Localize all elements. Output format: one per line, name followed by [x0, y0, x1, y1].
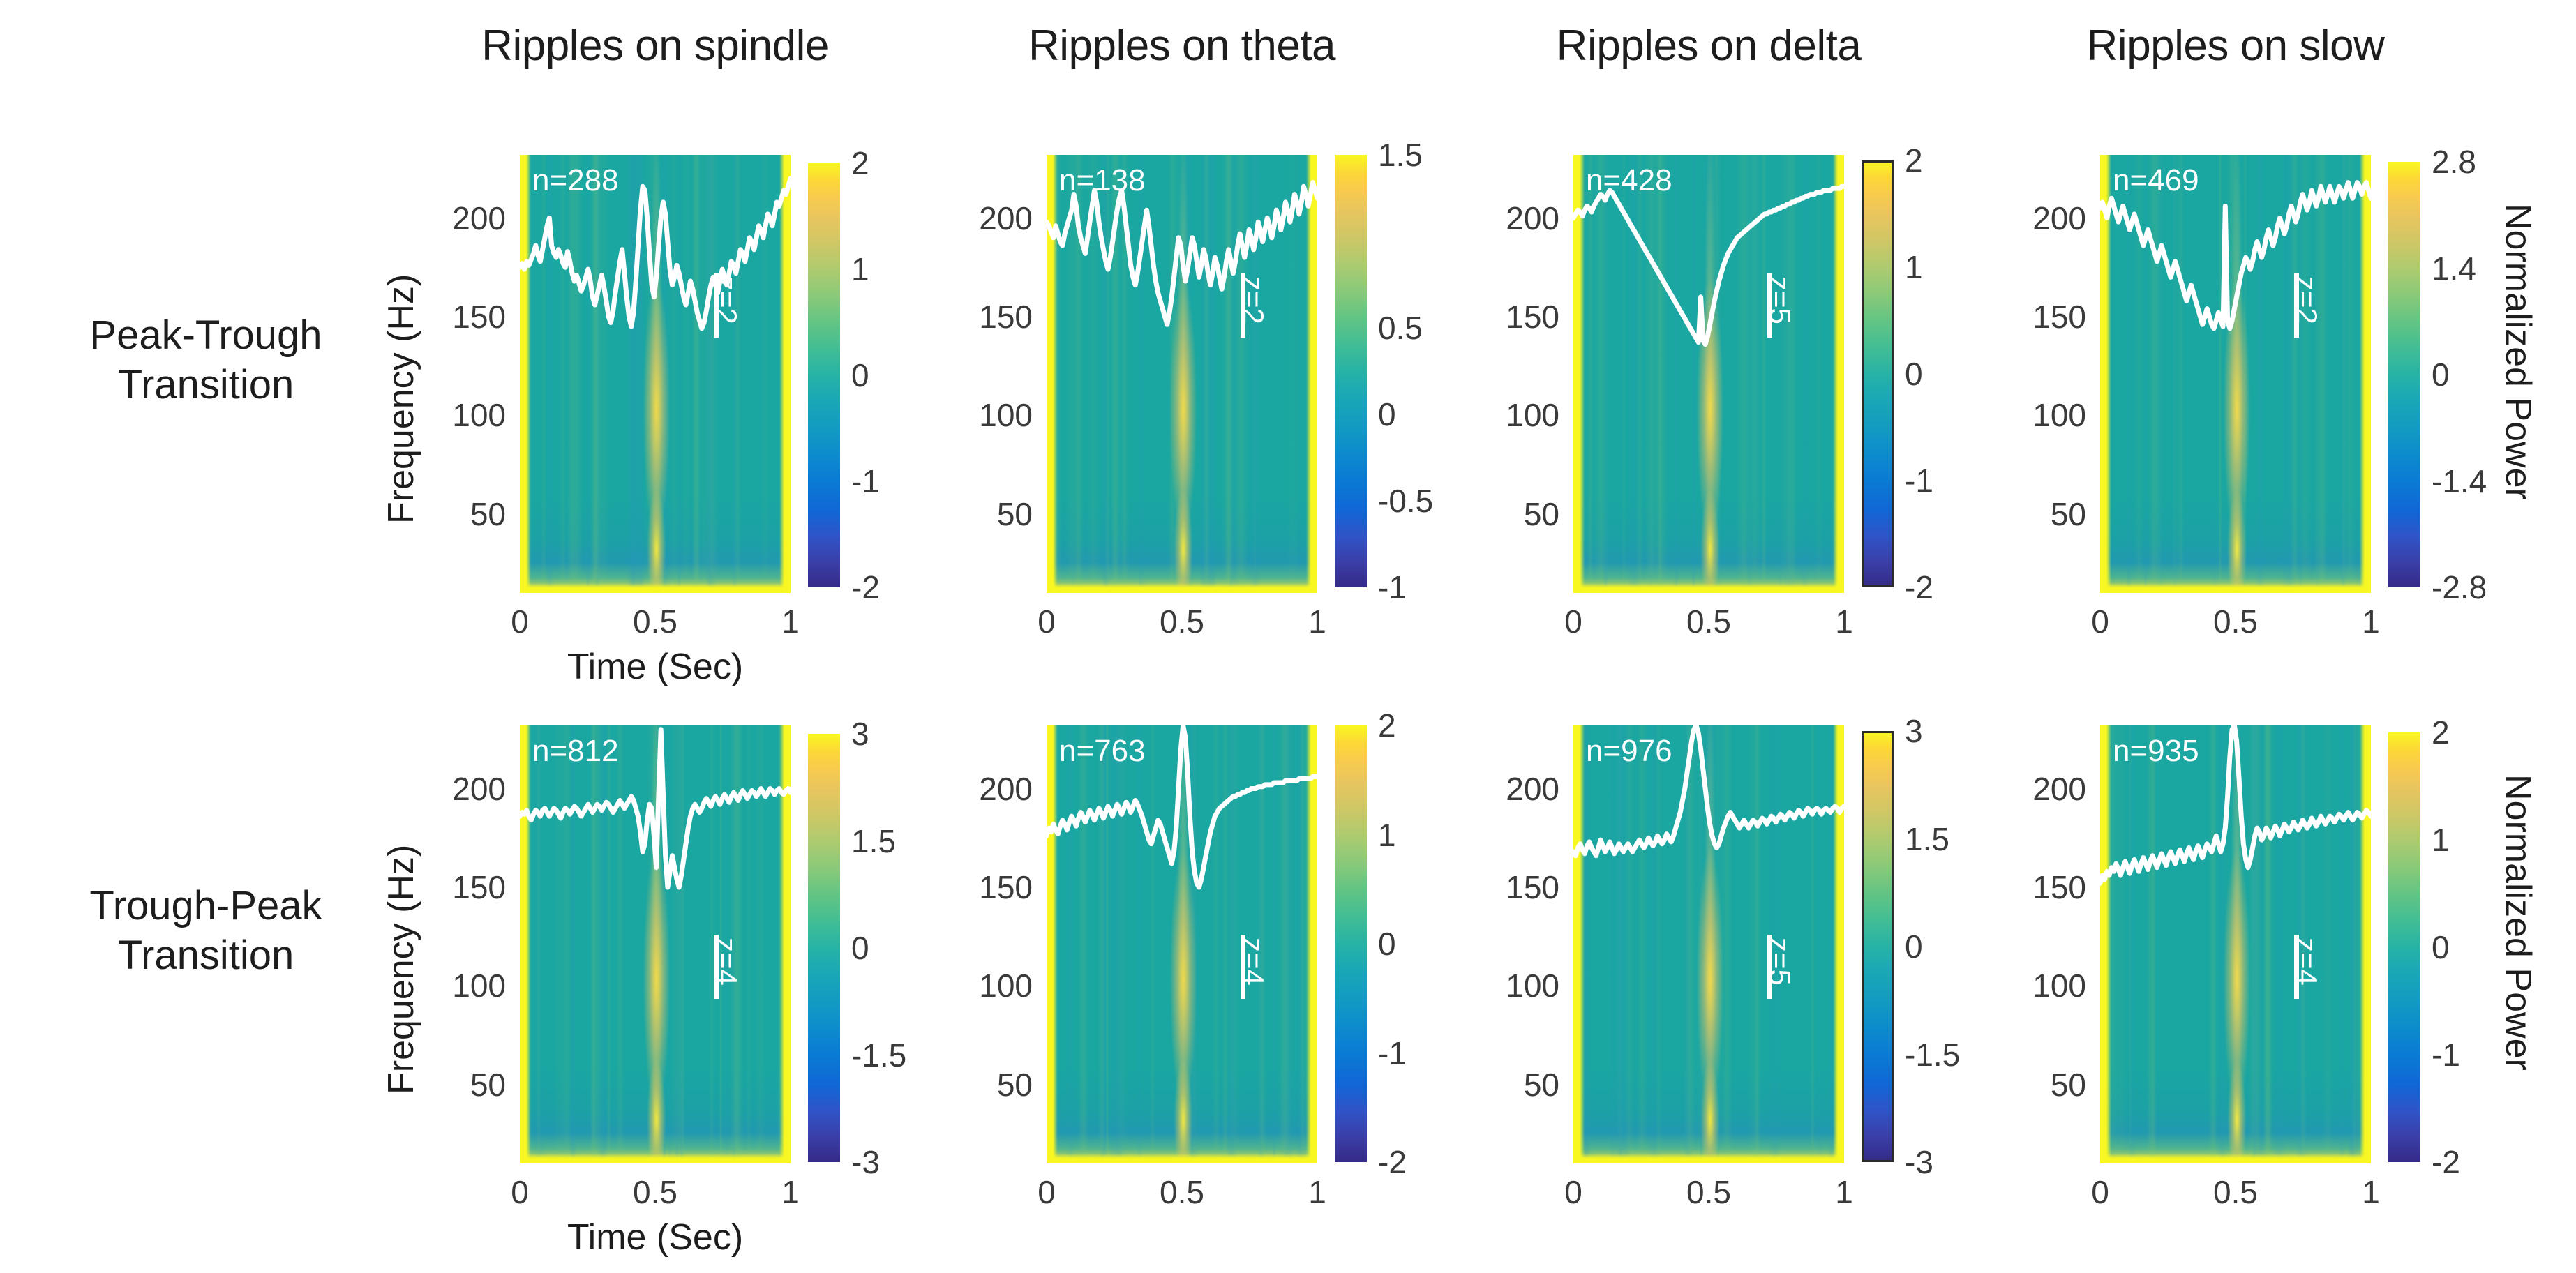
colorbar-title: Normalized Power	[2497, 774, 2539, 1071]
x-tick-label: 0.5	[1160, 603, 1204, 640]
z-scale-bar: z=2	[2294, 273, 2350, 338]
colorbar	[2388, 732, 2420, 1162]
x-tick-label: 0	[2091, 1173, 2109, 1211]
z-scale-bar: z=2	[714, 273, 770, 338]
colorbar-tick-label: -2	[851, 568, 880, 606]
y-tick-label: 50	[2002, 1066, 2086, 1103]
colorbar-tick-label: -1	[1378, 568, 1407, 606]
y-tick-label: 50	[1476, 495, 1559, 533]
colorbar	[1862, 160, 1894, 587]
colorbar-tick-label: -1	[1905, 462, 1933, 499]
colorbar-tick-label: 1.5	[851, 822, 896, 860]
y-tick-label: 150	[422, 868, 506, 906]
colorbar-tick-label: 0	[1905, 928, 1923, 965]
x-tick-label: 0	[2091, 603, 2109, 640]
x-tick-label: 0	[1564, 603, 1582, 640]
colorbar-tick-label: 1.5	[1905, 820, 1949, 858]
y-tick-label: 150	[2002, 298, 2086, 336]
z-scale-bar-label: z=5	[1763, 276, 1797, 324]
colorbar-tick-label: 1	[2432, 821, 2450, 859]
colorbar-tick-label: -1.4	[2432, 462, 2487, 500]
spectrogram-plot[interactable]	[1047, 155, 1317, 593]
x-tick-label: 0	[1038, 603, 1056, 640]
z-scale-bar-label: z=4	[2290, 937, 2323, 986]
x-tick-label: 1	[2362, 1173, 2380, 1211]
y-tick-label: 150	[2002, 868, 2086, 906]
sample-count-label: n=138	[1059, 163, 1146, 198]
z-scale-bar: z=2	[1241, 273, 1296, 338]
colorbar	[2388, 162, 2420, 587]
colorbar-tick-label: 0.5	[1378, 309, 1423, 347]
y-tick-label: 150	[422, 298, 506, 336]
colorbar-tick-label: -1	[851, 462, 880, 500]
colorbar-tick-label: 2	[851, 144, 869, 182]
column-title-3: Ripples on delta	[1455, 21, 1963, 70]
y-axis-title: Frequency (Hz)	[380, 845, 422, 1094]
colorbar-tick-label: -1.5	[1905, 1036, 1960, 1074]
x-tick-label: 0.5	[633, 1173, 677, 1211]
y-tick-label: 50	[949, 1066, 1033, 1103]
z-scale-bar-label: z=2	[710, 276, 743, 324]
y-tick-label: 50	[422, 1066, 506, 1103]
sample-count-label: n=763	[1059, 734, 1146, 769]
colorbar-tick-label: -3	[1905, 1143, 1933, 1181]
x-tick-label: 0.5	[2213, 1173, 2258, 1211]
x-tick-label: 0	[1564, 1173, 1582, 1211]
sample-count-label: n=288	[532, 163, 619, 198]
spectrogram-plot[interactable]	[2100, 155, 2371, 593]
x-tick-label: 0.5	[1686, 1173, 1731, 1211]
x-axis-title: Time (Sec)	[567, 646, 743, 688]
z-scale-bar-label: z=5	[1763, 937, 1797, 986]
y-tick-label: 200	[2002, 770, 2086, 808]
colorbar	[808, 734, 840, 1162]
colorbar-tick-label: 2	[1378, 707, 1396, 744]
x-tick-label: 1	[1835, 1173, 1853, 1211]
row-label-line1: Trough-Peak	[42, 882, 370, 931]
colorbar-tick-label: -1	[1378, 1034, 1407, 1072]
y-tick-label: 100	[422, 967, 506, 1004]
lfp-overlay-trace	[2100, 155, 2371, 593]
lfp-overlay-trace	[1573, 155, 1844, 593]
colorbar-tick-label: -2	[1378, 1143, 1407, 1181]
y-tick-label: 100	[1476, 967, 1559, 1004]
colorbar-tick-label: 0	[1378, 396, 1396, 433]
x-axis-title: Time (Sec)	[567, 1216, 743, 1258]
colorbar-tick-label: 0	[1378, 925, 1396, 963]
z-scale-bar: z=4	[1241, 935, 1296, 999]
sample-count-label: n=428	[1586, 163, 1672, 198]
colorbar-tick-label: -2.8	[2432, 568, 2487, 606]
lfp-overlay-trace	[520, 155, 791, 593]
y-tick-label: 200	[949, 770, 1033, 808]
colorbar-tick-label: 0	[1905, 355, 1923, 393]
row-label-line1: Peak-Trough	[42, 311, 370, 361]
colorbar-tick-label: 3	[851, 715, 869, 753]
z-scale-bar: z=5	[1767, 273, 1823, 338]
y-tick-label: 50	[2002, 495, 2086, 533]
y-tick-label: 100	[422, 396, 506, 434]
colorbar	[1335, 725, 1367, 1162]
x-tick-label: 0.5	[1686, 603, 1731, 640]
z-scale-bar: z=4	[2294, 935, 2350, 999]
colorbar	[1862, 731, 1894, 1162]
figure-canvas: Ripples on spindleRipples on thetaRipple…	[0, 0, 2576, 1273]
y-tick-label: 200	[2002, 199, 2086, 237]
y-tick-label: 150	[1476, 868, 1559, 906]
sample-count-label: n=812	[532, 734, 619, 769]
column-title-4: Ripples on slow	[1982, 21, 2489, 70]
y-tick-label: 100	[2002, 967, 2086, 1004]
y-tick-label: 150	[949, 868, 1033, 906]
x-tick-label: 0	[511, 603, 529, 640]
colorbar-tick-label: -2	[2432, 1143, 2460, 1181]
x-tick-label: 1	[781, 603, 800, 640]
colorbar-tick-label: -0.5	[1378, 482, 1433, 520]
colorbar-tick-label: 1.4	[2432, 250, 2476, 287]
column-title-1: Ripples on spindle	[401, 21, 909, 70]
colorbar-tick-label: 3	[1905, 712, 1923, 750]
colorbar-tick-label: 2.8	[2432, 143, 2476, 181]
z-scale-bar: z=4	[714, 935, 770, 999]
colorbar-tick-label: 2	[1905, 142, 1923, 179]
sample-count-label: n=469	[2113, 163, 2199, 198]
z-scale-bar-label: z=2	[1236, 276, 1270, 324]
x-tick-label: 1	[1835, 603, 1853, 640]
y-axis-title: Frequency (Hz)	[380, 274, 422, 524]
colorbar	[1335, 155, 1367, 587]
y-tick-label: 50	[949, 495, 1033, 533]
x-tick-label: 1	[1308, 1173, 1326, 1211]
y-tick-label: 200	[1476, 199, 1559, 237]
colorbar-tick-label: 1	[1378, 816, 1396, 854]
colorbar-tick-label: -3	[851, 1143, 880, 1181]
colorbar-tick-label: 2	[2432, 714, 2450, 751]
colorbar-tick-label: 1	[1905, 248, 1923, 286]
sample-count-label: n=935	[2113, 734, 2199, 769]
z-scale-bar: z=5	[1767, 935, 1823, 999]
y-tick-label: 200	[422, 770, 506, 808]
colorbar-title: Normalized Power	[2497, 204, 2539, 500]
sample-count-label: n=976	[1586, 734, 1672, 769]
x-tick-label: 0.5	[633, 603, 677, 640]
x-tick-label: 0	[511, 1173, 529, 1211]
lfp-overlay-trace	[1047, 155, 1317, 593]
y-tick-label: 150	[1476, 298, 1559, 336]
colorbar-tick-label: 0	[2432, 356, 2450, 393]
column-title-2: Ripples on theta	[928, 21, 1436, 70]
y-tick-label: 200	[1476, 770, 1559, 808]
row-label-line2: Transition	[42, 361, 370, 410]
z-scale-bar-label: z=4	[1236, 937, 1270, 986]
spectrogram-plot[interactable]	[1573, 155, 1844, 593]
colorbar-tick-label: 0	[851, 356, 869, 394]
colorbar	[808, 163, 840, 587]
x-tick-label: 1	[781, 1173, 800, 1211]
y-tick-label: 200	[949, 199, 1033, 237]
x-tick-label: 0.5	[1160, 1173, 1204, 1211]
row-label-1: Peak-TroughTransition	[42, 311, 370, 410]
colorbar-tick-label: 0	[851, 929, 869, 967]
x-tick-label: 0	[1038, 1173, 1056, 1211]
z-scale-bar-label: z=2	[2290, 276, 2323, 324]
x-tick-label: 1	[2362, 603, 2380, 640]
colorbar-tick-label: -1	[2432, 1036, 2460, 1074]
y-tick-label: 100	[1476, 396, 1559, 434]
y-tick-label: 100	[949, 396, 1033, 434]
x-tick-label: 0.5	[2213, 603, 2258, 640]
colorbar-tick-label: 1	[851, 250, 869, 288]
row-label-line2: Transition	[42, 931, 370, 981]
y-tick-label: 50	[422, 495, 506, 533]
row-label-2: Trough-PeakTransition	[42, 882, 370, 981]
x-tick-label: 1	[1308, 603, 1326, 640]
y-tick-label: 100	[2002, 396, 2086, 434]
colorbar-tick-label: 0	[2432, 928, 2450, 966]
y-tick-label: 50	[1476, 1066, 1559, 1103]
y-tick-label: 150	[949, 298, 1033, 336]
z-scale-bar-label: z=4	[710, 937, 743, 986]
colorbar-tick-label: -1.5	[851, 1037, 906, 1074]
y-tick-label: 200	[422, 199, 506, 237]
spectrogram-plot[interactable]	[520, 155, 791, 593]
y-tick-label: 100	[949, 967, 1033, 1004]
colorbar-tick-label: -2	[1905, 568, 1933, 606]
colorbar-tick-label: 1.5	[1378, 136, 1423, 174]
